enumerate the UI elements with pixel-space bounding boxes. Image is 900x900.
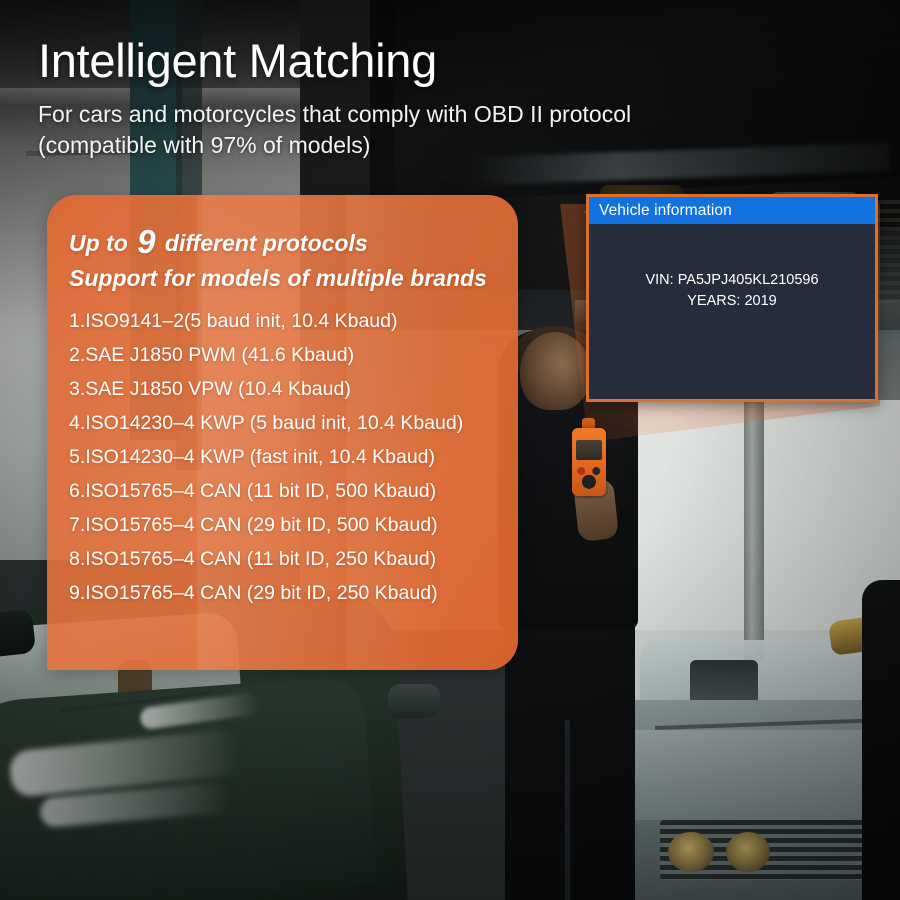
page-subtitle-line-2: (compatible with 97% of models)	[38, 132, 370, 158]
vehicle-panel-title: Vehicle information	[599, 202, 732, 220]
protocol-heading-prefix: Up to	[69, 230, 134, 256]
list-item: 4.ISO14230–4 KWP (5 baud init, 10.4 Kbau…	[69, 414, 492, 434]
page-subtitle-line-1: For cars and motorcycles that comply wit…	[38, 101, 631, 127]
list-item: 3.SAE J1850 VPW (10.4 Kbaud)	[69, 380, 492, 400]
protocol-panel-content: Up to 9 different protocols Support for …	[47, 195, 518, 603]
protocol-list: 1.ISO9141–2(5 baud init, 10.4 Kbaud) 2.S…	[69, 312, 492, 604]
vehicle-years-value: YEARS: 2019	[687, 291, 776, 312]
vehicle-information-panel: Vehicle information VIN: PA5JPJ405KL2105…	[586, 194, 878, 402]
list-item: 8.ISO15765–4 CAN (11 bit ID, 250 Kbaud)	[69, 550, 492, 570]
vehicle-panel-body: VIN: PA5JPJ405KL210596 YEARS: 2019	[589, 224, 875, 399]
list-item: 2.SAE J1850 PWM (41.6 Kbaud)	[69, 346, 492, 366]
header-block: Intelligent Matching For cars and motorc…	[38, 36, 758, 161]
protocol-heading-line-1: Up to 9 different protocols	[69, 221, 492, 264]
list-item: 5.ISO14230–4 KWP (fast init, 10.4 Kbaud)	[69, 448, 492, 468]
protocol-count-number: 9	[134, 223, 158, 260]
page-title: Intelligent Matching	[38, 36, 758, 85]
protocol-heading-suffix: different protocols	[159, 230, 368, 256]
page-subtitle: For cars and motorcycles that comply wit…	[38, 99, 758, 160]
product-feature-banner: Intelligent Matching For cars and motorc…	[0, 0, 900, 900]
protocol-panel: Up to 9 different protocols Support for …	[47, 195, 518, 670]
list-item: 1.ISO9141–2(5 baud init, 10.4 Kbaud)	[69, 312, 492, 332]
vehicle-vin-value: VIN: PA5JPJ405KL210596	[645, 270, 818, 291]
list-item: 9.ISO15765–4 CAN (29 bit ID, 250 Kbaud)	[69, 584, 492, 604]
protocol-panel-heading: Up to 9 different protocols Support for …	[69, 221, 492, 294]
list-item: 6.ISO15765–4 CAN (11 bit ID, 500 Kbaud)	[69, 482, 492, 502]
list-item: 7.ISO15765–4 CAN (29 bit ID, 500 Kbaud)	[69, 516, 492, 536]
protocol-heading-line-2: Support for models of multiple brands	[69, 264, 492, 294]
vehicle-panel-titlebar: Vehicle information	[589, 197, 875, 224]
